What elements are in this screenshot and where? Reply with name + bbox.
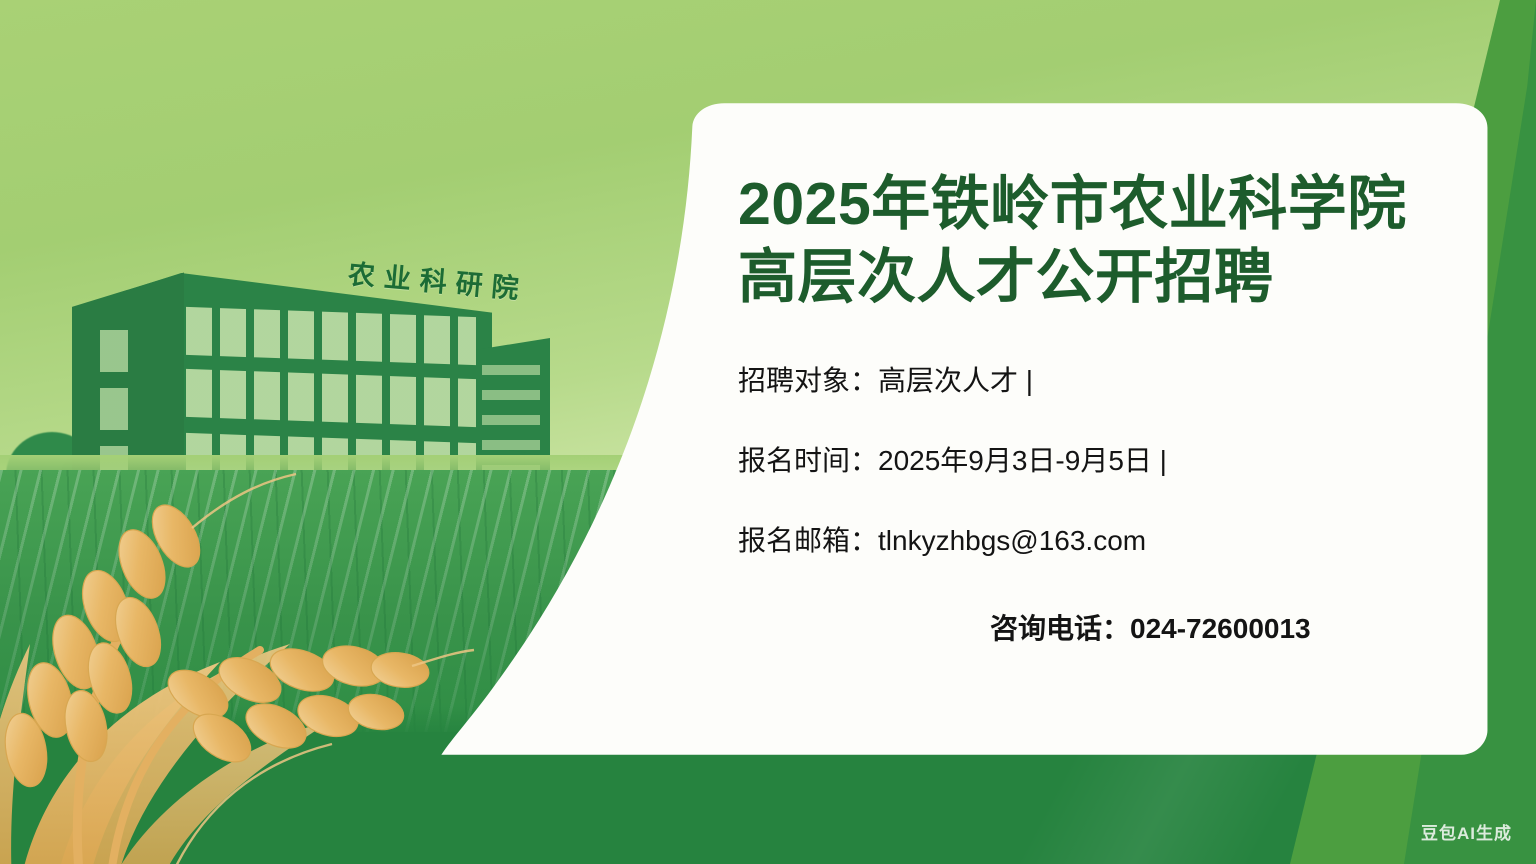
detail-contact-phone[interactable]: 咨询电话：024-72600013 (738, 608, 1488, 650)
detail-recruitment-target: 招聘对象：高层次人才 | (738, 360, 1488, 402)
detail-application-period: 报名时间：2025年9月3日-9月5日 | (738, 440, 1488, 482)
poster-canvas: 农业科研院 (0, 0, 1536, 864)
detail-list: 招聘对象：高层次人才 | 报名时间：2025年9月3日-9月5日 | 报名邮箱：… (738, 360, 1488, 650)
building-windows-row (186, 369, 476, 427)
detail-application-email[interactable]: 报名邮箱：tlnkyzhbgs@163.com (738, 520, 1488, 562)
wheat-stalks (0, 454, 480, 864)
card-content: 2025年铁岭市农业科学院高层次人才公开招聘 招聘对象：高层次人才 | 报名时间… (738, 100, 1488, 758)
page-title: 2025年铁岭市农业科学院高层次人才公开招聘 (738, 168, 1448, 314)
ai-watermark: 豆包AI生成 (1421, 819, 1512, 844)
building-windows-row (186, 307, 476, 365)
